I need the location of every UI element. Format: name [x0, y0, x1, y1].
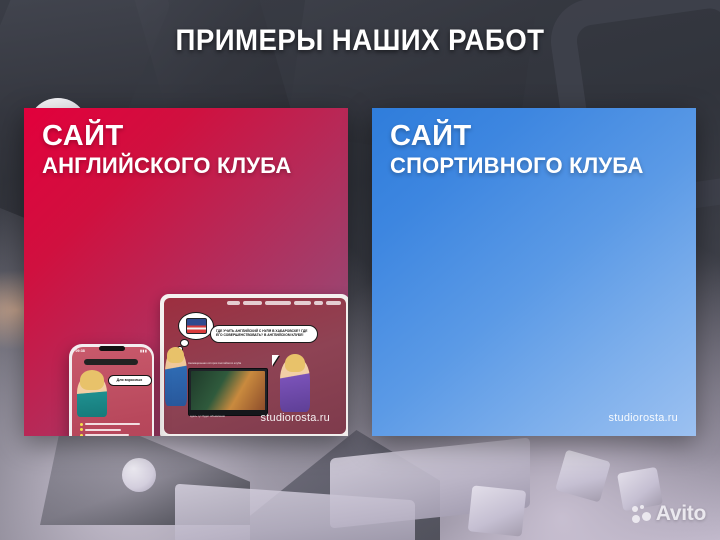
hair-shape: [80, 370, 104, 390]
nav-item-o-programme[interactable]: [243, 301, 262, 305]
phone-mockup-english-club: 09:38 ▮▮▮ Для взрослых Подробнее »: [69, 344, 154, 436]
card-url-sport-club: studiorosta.ru: [609, 412, 678, 424]
video-caption-top: Анимационная история Английского клуба: [188, 362, 241, 365]
card-title-line2: АНГЛИЙСКОГО КЛУБА: [42, 155, 291, 177]
hair-shape: [167, 347, 184, 363]
embedded-video-block[interactable]: [188, 368, 268, 416]
nav-item-glavnaya[interactable]: [227, 301, 240, 305]
nav-item-uchitelyam[interactable]: [265, 301, 291, 305]
list-item: [80, 434, 142, 437]
bubble-for-adults: Для взрослых: [108, 375, 152, 387]
site-navigation-bar[interactable]: [164, 298, 346, 307]
status-time: 09:38: [76, 349, 85, 353]
video-caption-bottom: здесь тут будет объявление: [190, 415, 225, 418]
page-title: ПРИМЕРЫ НАШИХ РАБОТ: [29, 24, 691, 58]
avito-watermark: Avito: [632, 502, 706, 526]
thought-bubble: [178, 312, 214, 340]
character-adult-illustration: [77, 375, 107, 417]
phone-site-header: [84, 359, 138, 365]
speech-bubble-question: ГДЕ УЧИТЬ АНГЛИЙСКИЙ С НУЛЯ В ХАБАРОВСКЕ…: [210, 325, 318, 343]
nav-item-faq[interactable]: [314, 301, 323, 305]
card-title-line2: СПОРТИВНОГО КЛУБА: [390, 155, 644, 177]
hair-shape: [285, 354, 305, 372]
feature-list-adults: [80, 423, 142, 437]
card-title-sport-club: САЙТ СПОРТИВНОГО КЛУБА: [390, 122, 644, 177]
speech-bubble-tail: [272, 355, 279, 366]
card-title-line1: САЙТ: [390, 122, 644, 152]
work-card-sport-club[interactable]: САЙТ СПОРТИВНОГО КЛУБА: [372, 108, 696, 436]
card-title-english-club: САЙТ АНГЛИЙСКОГО КЛУБА: [42, 122, 291, 177]
card-title-line1: САЙТ: [42, 122, 291, 152]
card-url-english-club: studiorosta.ru: [261, 412, 330, 424]
screenshot-canvas: ПРИМЕРЫ НАШИХ РАБОТ САЙТ АНГЛИЙСКОГО КЛУ…: [0, 0, 720, 540]
phone-screen-english-site: 09:38 ▮▮▮ Для взрослых Подробнее »: [72, 347, 152, 437]
character-illustration: [280, 358, 310, 412]
work-card-english-club[interactable]: САЙТ АНГЛИЙСКОГО КЛУБА: [24, 108, 348, 436]
phone-notch: [99, 346, 125, 351]
bg-cube-shape: [468, 485, 527, 536]
bg-cube-shape: [555, 449, 611, 502]
character-illustration: [165, 350, 187, 406]
status-signal-battery-icons: ▮▮▮: [140, 349, 147, 353]
nav-item-rezultaty[interactable]: [294, 301, 311, 305]
avito-wordmark: Avito: [656, 502, 706, 526]
list-item: [80, 423, 142, 426]
avito-dots-logo-icon: [632, 505, 651, 524]
video-thumbnail: [191, 371, 265, 413]
usa-flag-monitor-icon: [186, 318, 207, 334]
list-item: [80, 428, 142, 431]
bg-sphere-shape: [122, 458, 156, 492]
nav-item-kontakty[interactable]: [326, 301, 341, 305]
